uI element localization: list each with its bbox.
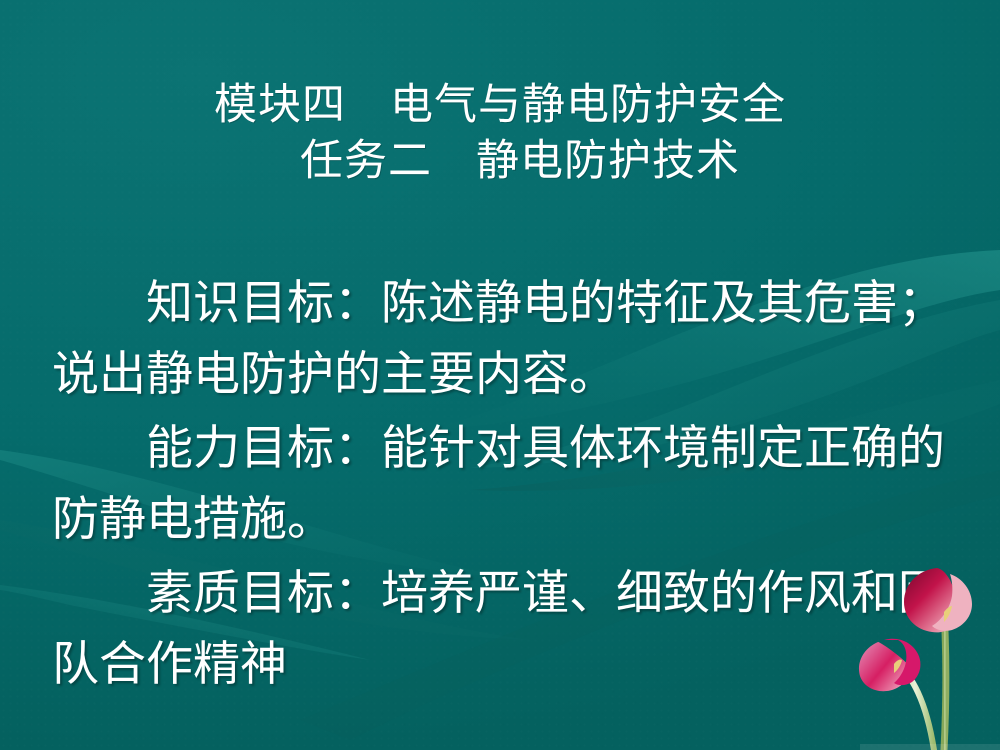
slide-body: 知识目标：陈述静电的特征及其危害；说出静电防护的主要内容。 能力目标：能针对具体…: [52, 268, 957, 703]
objective-ability: 能力目标：能针对具体环境制定正确的防静电措施。: [52, 413, 957, 556]
title-line-1: 模块四 电气与静电防护安全: [0, 78, 1000, 134]
presentation-slide: 模块四 电气与静电防护安全 任务二 静电防护技术 知识目标：陈述静电的特征及其危…: [0, 0, 1000, 750]
bottom-edge-strip: [860, 744, 1000, 750]
objective-quality: 素质目标：培养严谨、细致的作风和团队合作精神: [52, 558, 957, 701]
slide-title: 模块四 电气与静电防护安全 任务二 静电防护技术: [0, 78, 1000, 190]
title-line-2: 任务二 静电防护技术: [40, 134, 1000, 190]
objective-knowledge: 知识目标：陈述静电的特征及其危害；说出静电防护的主要内容。: [52, 268, 957, 411]
